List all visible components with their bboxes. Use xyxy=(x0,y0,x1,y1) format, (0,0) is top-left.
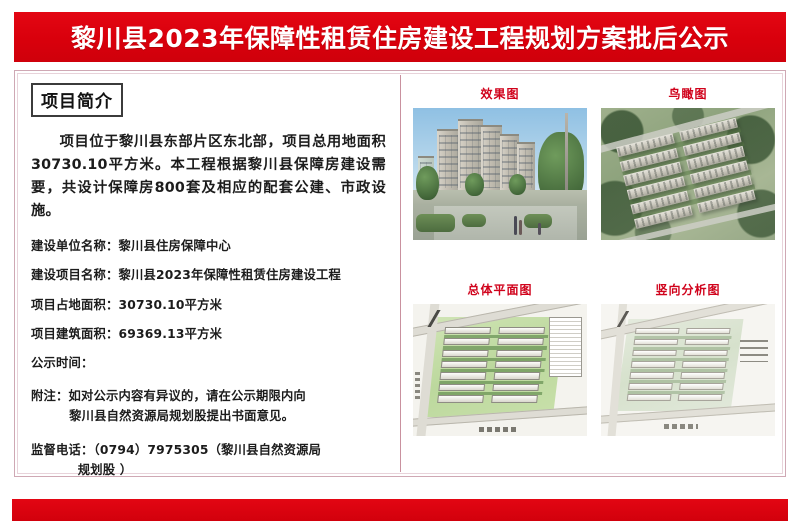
vertical-analysis-plan-image xyxy=(601,304,775,436)
building-footprints xyxy=(626,326,733,405)
field-row-building-area: 项目建筑面积：69369.13平方米 xyxy=(31,325,386,343)
poster-title-banner: 黎川县2023年保障性租赁住房建设工程规划方案批后公示 xyxy=(14,12,786,62)
project-intro-paragraph: 项目位于黎川县东部片区东北部，项目总用地面积30730.10平方米。本工程根据黎… xyxy=(31,131,386,224)
building-footprint xyxy=(632,350,677,357)
pedestrian-figure xyxy=(538,223,541,235)
image-cell-master-plan: 总体平面图 xyxy=(413,281,587,469)
tree-icon xyxy=(465,173,484,197)
north-arrow-icon xyxy=(420,310,448,327)
image-caption: 鸟瞰图 xyxy=(668,85,707,102)
architectural-rendering-image xyxy=(413,108,587,240)
building-footprint xyxy=(682,350,727,357)
building-footprint xyxy=(629,372,674,379)
building-footprint xyxy=(678,383,723,390)
supervision-phone-block: 监督电话：（0794）7975305（黎川县自然资源局 规划股 ） xyxy=(31,441,386,481)
pedestrian-figure xyxy=(514,216,517,234)
plan-side-annotation xyxy=(415,372,420,401)
building-footprint xyxy=(630,361,675,368)
image-caption: 竖向分析图 xyxy=(655,281,720,298)
poster-body-frame: 项目简介 项目位于黎川县东部片区东北部，项目总用地面积30730.10平方米。本… xyxy=(14,70,786,477)
field-row-land-area: 项目占地面积：30730.10平方米 xyxy=(31,296,386,314)
image-caption: 总体平面图 xyxy=(467,281,532,298)
supervision-line-1: 监督电话：（0794）7975305（黎川县自然资源局 xyxy=(31,441,386,461)
building-footprint xyxy=(633,339,678,346)
field-row-publicity-period: 公示时间： xyxy=(31,354,386,372)
field-row-project-name: 建设项目名称：黎川县2023年保障性租赁住房建设工程 xyxy=(31,266,386,284)
tree-icon xyxy=(509,174,526,195)
building-footprint xyxy=(491,395,538,402)
building-footprints xyxy=(437,325,550,407)
building-footprint xyxy=(681,361,726,368)
building-footprint xyxy=(677,394,722,401)
note-line-2: 黎川县自然资源局规划股提出书面意见。 xyxy=(31,407,386,427)
plan-legend-table xyxy=(740,340,768,361)
project-info-panel: 项目简介 项目位于黎川县东部片区东北部，项目总用地面积30730.10平方米。本… xyxy=(15,71,400,476)
aerial-birdseye-image xyxy=(601,108,775,240)
note-block: 附注：如对公示内容有异议的，请在公示期限内向 黎川县自然资源局规划股提出书面意见… xyxy=(31,387,386,427)
building-footprint xyxy=(685,328,730,335)
building-footprint xyxy=(444,326,491,333)
building-footprint xyxy=(628,383,673,390)
building-footprint xyxy=(495,361,542,368)
field-value: 黎川县2023年保障性租赁住房建设工程 xyxy=(118,268,340,282)
building-footprint xyxy=(439,372,486,379)
field-value: 黎川县住房保障中心 xyxy=(118,239,230,253)
shrub-row xyxy=(416,214,454,232)
field-label: 项目建筑面积： xyxy=(31,327,118,341)
field-label: 项目占地面积： xyxy=(31,298,118,312)
supervision-line-2: 规划股 ） xyxy=(31,461,386,481)
public-notice-poster: 黎川县2023年保障性租赁住房建设工程规划方案批后公示 项目简介 项目位于黎川县… xyxy=(0,0,800,529)
building-footprint xyxy=(634,328,679,335)
north-arrow-icon xyxy=(610,311,636,327)
image-cell-rendering: 效果图 xyxy=(413,85,587,273)
plan-bottom-annotation xyxy=(479,427,517,432)
section-heading-project-intro: 项目简介 xyxy=(31,83,123,117)
building-footprint xyxy=(442,349,489,356)
field-value: 69369.13平方米 xyxy=(118,327,222,341)
plan-legend-table xyxy=(549,317,582,378)
building-footprint xyxy=(496,349,543,356)
building-footprint xyxy=(684,339,729,346)
building-footprint xyxy=(497,338,544,345)
tree-icon xyxy=(416,166,439,200)
field-label: 建设单位名称： xyxy=(31,239,118,253)
light-pole-icon xyxy=(565,113,568,190)
image-cell-vertical-analysis: 竖向分析图 xyxy=(601,281,775,469)
image-caption: 效果图 xyxy=(480,85,519,102)
pedestrian-figure xyxy=(519,220,522,235)
plan-bottom-annotation xyxy=(664,424,699,429)
section-heading-label: 项目简介 xyxy=(41,92,113,112)
building-footprint xyxy=(680,372,725,379)
building-footprint xyxy=(626,394,671,401)
field-label: 建设项目名称： xyxy=(31,268,118,282)
field-label: 公示时间： xyxy=(31,356,94,370)
poster-bottom-bar xyxy=(12,499,788,521)
field-row-construction-unit: 建设单位名称：黎川县住房保障中心 xyxy=(31,237,386,255)
building-footprint xyxy=(441,361,488,368)
building-footprint xyxy=(443,338,490,345)
building-footprint xyxy=(437,395,484,402)
image-cell-aerial: 鸟瞰图 xyxy=(601,85,775,273)
image-grid: 效果图 xyxy=(413,79,775,468)
project-images-panel: 效果图 xyxy=(401,71,785,476)
master-site-plan-image xyxy=(413,304,587,436)
building-footprint xyxy=(494,372,541,379)
note-line-1: 附注：如对公示内容有异议的，请在公示期限内向 xyxy=(31,387,386,407)
building-footprint xyxy=(438,384,485,391)
building-footprint xyxy=(498,326,545,333)
residential-tower xyxy=(481,125,502,190)
building-footprint xyxy=(492,384,539,391)
residential-tower xyxy=(437,129,460,190)
shrub-row xyxy=(462,214,486,227)
plaza-pavement xyxy=(434,206,577,240)
field-value: 30730.10平方米 xyxy=(118,298,222,312)
page-title: 黎川县2023年保障性租赁住房建设工程规划方案批后公示 xyxy=(71,19,729,55)
